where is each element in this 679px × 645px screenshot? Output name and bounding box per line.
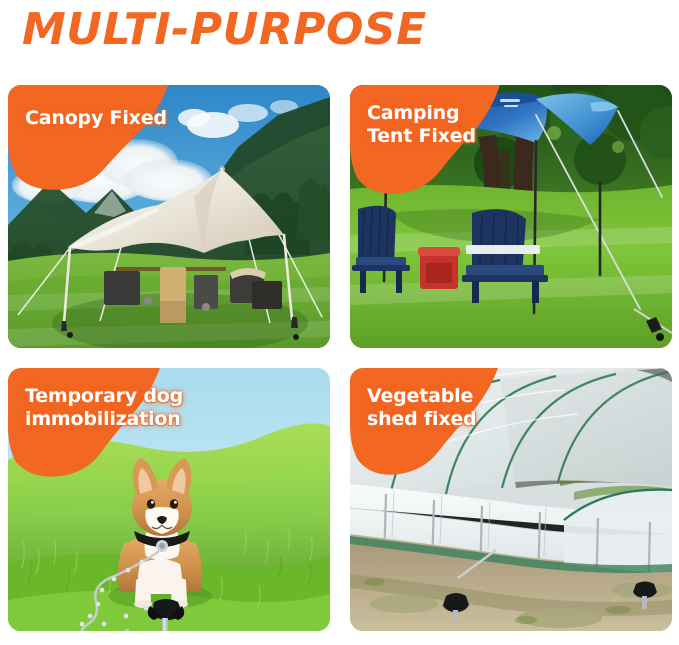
page-title: MULTI-PURPOSE (22, 2, 662, 60)
greenhouse-polytunnel-photo (350, 368, 672, 631)
camping-canopy-chairs-photo (350, 85, 672, 348)
feature-card-camping-tent-fixed[interactable]: Camping Tent Fixed (350, 85, 672, 348)
infographic-page: MULTI-PURPOSE (0, 0, 679, 645)
feature-card-grid: Canopy Fixed (8, 85, 672, 641)
corgi-on-grass-photo (8, 368, 330, 631)
feature-card-vegetable-shed-fixed[interactable]: Vegetable shed fixed (350, 368, 672, 631)
feature-card-temporary-dog-immobilization[interactable]: Temporary dog immobilization (8, 368, 330, 631)
feature-card-canopy-fixed[interactable]: Canopy Fixed (8, 85, 330, 348)
canopy-tent-mountain-photo (8, 85, 330, 348)
